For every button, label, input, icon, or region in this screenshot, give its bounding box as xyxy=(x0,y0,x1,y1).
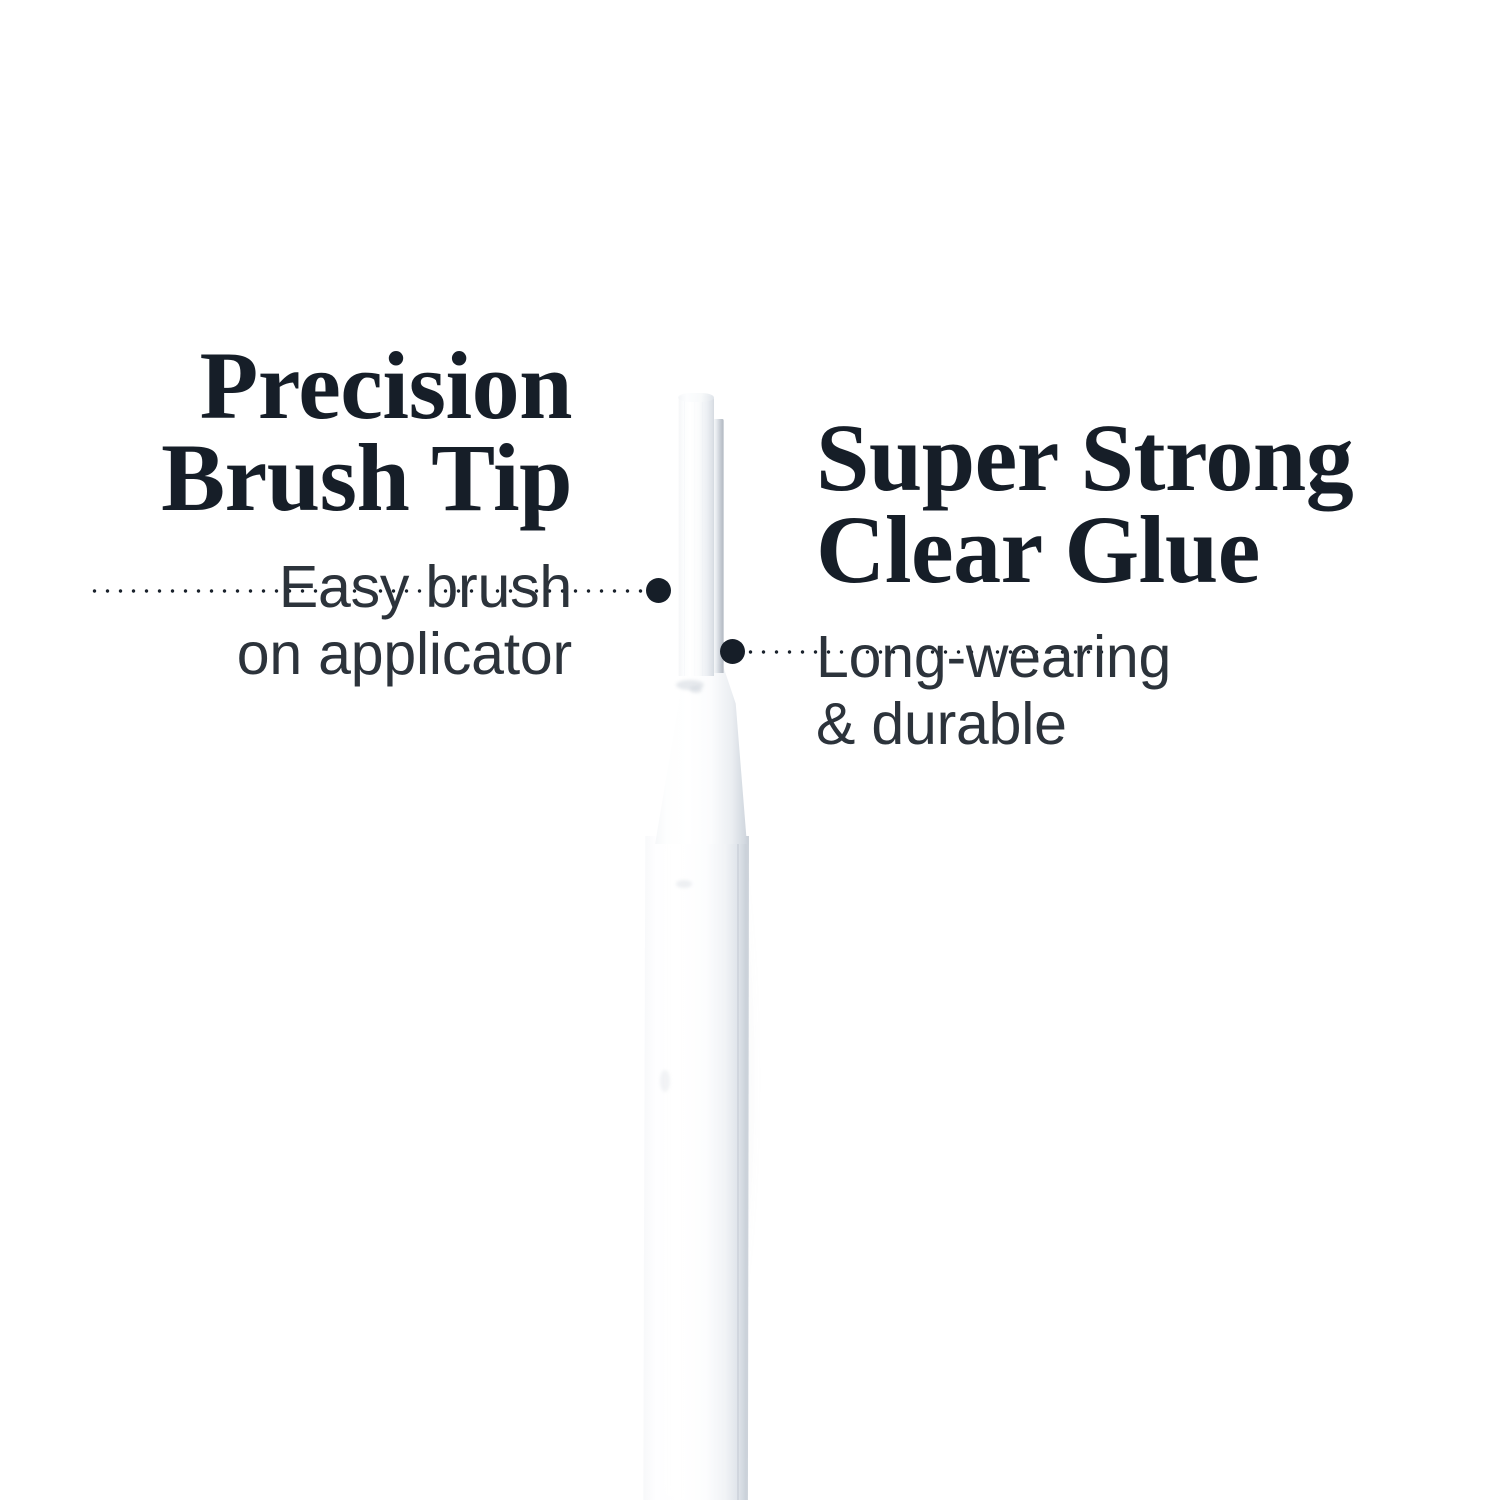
product-drop-shadow xyxy=(636,660,758,1500)
mould-mark xyxy=(676,880,692,888)
callout-headline-super-strong-clear-glue: Super Strong Clear Glue xyxy=(816,412,1416,596)
mould-mark xyxy=(660,1070,670,1092)
mould-mark xyxy=(690,686,702,693)
callout-subline-precision-brush-tip: Easy brush on applicator xyxy=(60,554,572,687)
product-feature-callout-graphic: Precision Brush Tip Easy brush on applic… xyxy=(0,0,1500,1500)
leader-dot-precision-brush-tip xyxy=(646,578,671,603)
callout-headline-precision-brush-tip: Precision Brush Tip xyxy=(60,340,572,524)
callout-precision-brush-tip: Precision Brush Tip Easy brush on applic… xyxy=(60,340,572,688)
brush-bristle-tube xyxy=(678,396,714,676)
mould-mark xyxy=(676,680,704,690)
leader-dot-super-strong-clear-glue xyxy=(720,639,745,664)
brush-tip-end xyxy=(678,393,714,402)
callout-super-strong-clear-glue: Super Strong Clear Glue Long-wearing & d… xyxy=(816,412,1416,758)
applicator-neck-taper xyxy=(648,664,750,844)
callout-subline-super-strong-clear-glue: Long-wearing & durable xyxy=(816,624,1416,757)
brush-bristle-strand xyxy=(713,419,724,673)
applicator-barrel xyxy=(641,836,749,1500)
